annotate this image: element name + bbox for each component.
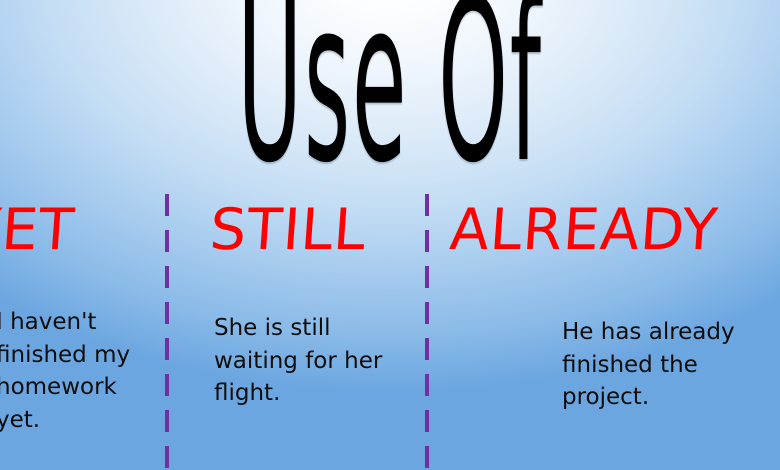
column-example-yet: I haven't finished my homework yet. — [0, 306, 156, 437]
column-example-still: She is still waiting for her flight. — [214, 312, 424, 410]
column-already: ALREADY He has already finished the proj… — [429, 194, 780, 470]
column-still: STILL She is still waiting for her fligh… — [169, 194, 425, 470]
column-heading-yet: YET — [0, 202, 77, 259]
page-title: Use Of — [237, 0, 542, 194]
title-area: Use Of — [0, 0, 780, 196]
column-heading-already: ALREADY — [448, 202, 720, 259]
column-heading-still: STILL — [208, 202, 368, 259]
slide-canvas: Use Of YET I haven't finished my homewor… — [0, 0, 780, 470]
column-example-already: He has already finished the project. — [562, 316, 780, 414]
column-yet: YET I haven't finished my homework yet. — [0, 194, 165, 470]
